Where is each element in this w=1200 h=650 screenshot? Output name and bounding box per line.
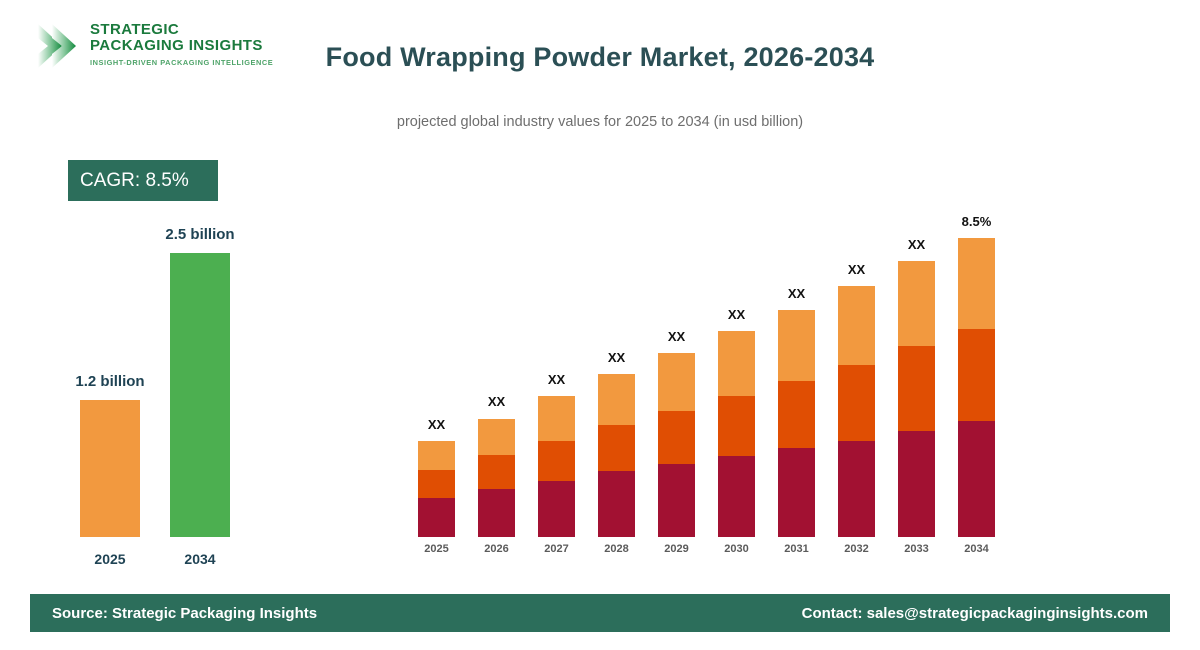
stacked-segment-segment-top-2028 [598,374,635,425]
stacked-segment-segment-middle-2027 [538,441,575,481]
comparison-bar-value-2025: 1.2 billion [30,373,190,390]
stacked-segment-segment-top-2034 [958,238,995,329]
stacked-segment-segment-top-2031 [778,310,815,381]
stacked-bar-top-label-2029: XX [642,329,712,344]
comparison-bar-label-2034: 2034 [140,551,260,567]
stacked-bar-2034 [958,238,995,537]
stacked-bar-2028 [598,374,635,537]
stacked-segment-segment-middle-2031 [778,381,815,448]
stacked-segment-segment-middle-2034 [958,329,995,422]
stacked-segment-segment-bottom-2033 [898,431,935,537]
comparison-chart: 1.2 billion20252.5 billion2034 [0,0,300,590]
stacked-bar-2026 [478,419,515,538]
stacked-bar-top-label-2028: XX [582,350,652,365]
stacked-bar-top-label-2034: 8.5% [942,214,1012,229]
stacked-segment-segment-bottom-2025 [418,498,455,537]
stacked-segment-segment-middle-2029 [658,411,695,464]
stacked-segment-segment-middle-2025 [418,470,455,499]
stacked-segment-segment-top-2027 [538,396,575,440]
stacked-segment-segment-middle-2030 [718,396,755,456]
stacked-segment-segment-top-2033 [898,261,935,346]
stacked-segment-segment-top-2026 [478,419,515,456]
stacked-bar-top-label-2026: XX [462,394,532,409]
stacked-segment-segment-bottom-2029 [658,464,695,537]
stacked-bar-2027 [538,396,575,537]
footer-bar: Source: Strategic Packaging Insights Con… [30,594,1170,632]
stacked-segment-segment-top-2029 [658,353,695,411]
stacked-segment-segment-bottom-2028 [598,471,635,537]
stacked-bar-2029 [658,353,695,537]
stacked-bar-2033 [898,261,935,537]
stacked-segment-segment-bottom-2034 [958,421,995,537]
footer-contact: Contact: sales@strategicpackaginginsight… [802,605,1170,622]
forecast-stacked-chart: XX2025XX2026XX2027XX2028XX2029XX2030XX20… [400,0,1020,590]
stacked-bar-top-label-2030: XX [702,307,772,322]
stacked-segment-segment-bottom-2027 [538,481,575,537]
stacked-bar-top-label-2033: XX [882,237,952,252]
stacked-bar-2032 [838,286,875,537]
stacked-segment-segment-middle-2032 [838,365,875,440]
stacked-segment-segment-top-2025 [418,441,455,470]
stacked-segment-segment-bottom-2031 [778,448,815,537]
comparison-bar-value-2034: 2.5 billion [120,226,280,243]
stacked-bar-top-label-2031: XX [762,286,832,301]
stacked-segment-segment-top-2032 [838,286,875,365]
stacked-bar-top-label-2025: XX [402,417,472,432]
stacked-segment-segment-top-2030 [718,331,755,397]
stacked-segment-segment-middle-2028 [598,425,635,471]
stacked-bar-2031 [778,310,815,537]
stacked-bar-label-2034: 2034 [942,543,1012,555]
stacked-segment-segment-middle-2026 [478,455,515,489]
stacked-bar-2025 [418,441,455,537]
stacked-bar-2030 [718,331,755,537]
comparison-bar-2025 [80,400,140,537]
footer-source: Source: Strategic Packaging Insights [30,605,317,622]
stacked-segment-segment-bottom-2030 [718,456,755,537]
stacked-segment-segment-bottom-2032 [838,441,875,537]
stacked-bar-top-label-2027: XX [522,372,592,387]
comparison-bar-2034 [170,253,230,537]
stacked-bar-top-label-2032: XX [822,262,892,277]
stacked-segment-segment-bottom-2026 [478,489,515,537]
stacked-segment-segment-middle-2033 [898,346,935,431]
